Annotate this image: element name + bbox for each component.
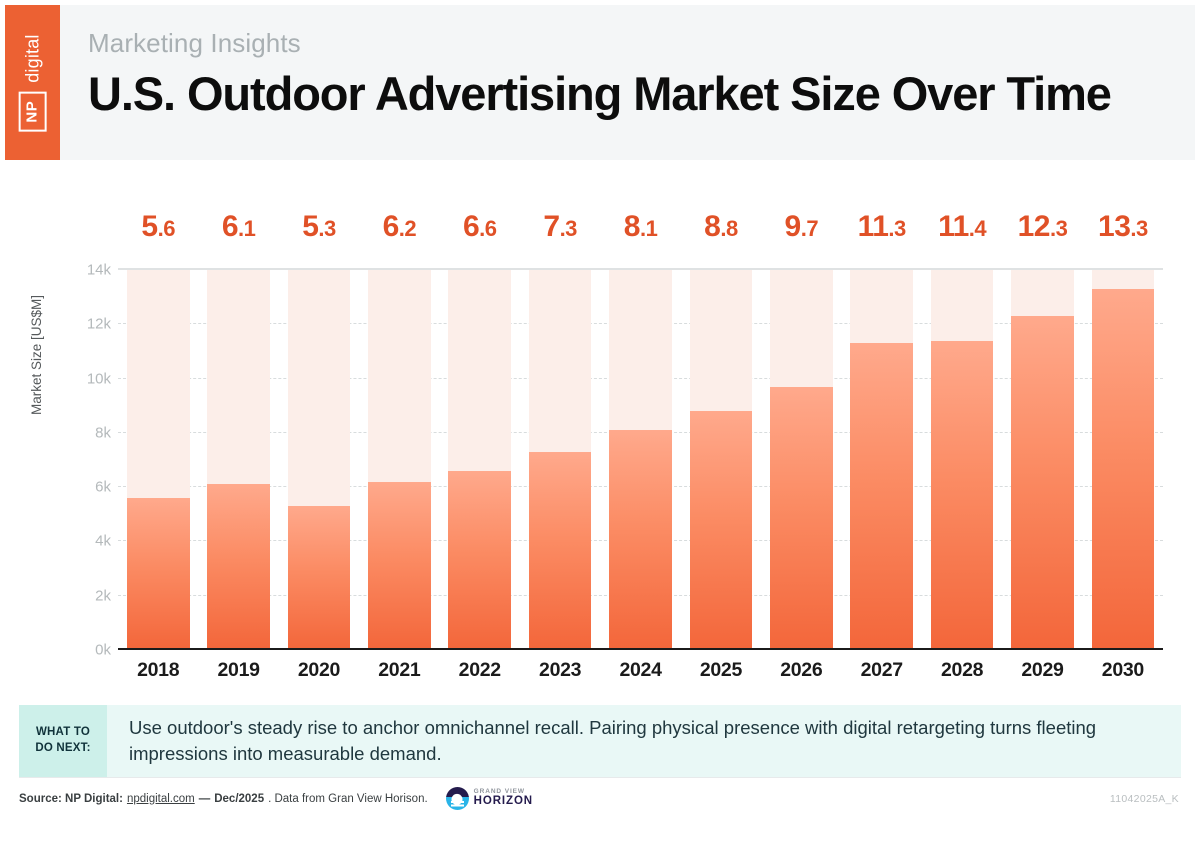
horizon-circle-icon xyxy=(446,787,469,810)
x-axis-tick-label: 2030 xyxy=(1083,659,1163,691)
bar-value-label: 5.6 xyxy=(118,212,198,258)
y-axis-label: Market Size [US$M] xyxy=(29,295,44,415)
source-dash: — xyxy=(199,793,211,805)
partner-logo-bottom: HORIZON xyxy=(474,796,533,808)
np-monogram: NP xyxy=(19,91,47,131)
y-axis-tick-label: 4k xyxy=(53,533,111,550)
eyebrow-label: Marketing Insights xyxy=(88,27,1195,60)
grand-view-horizon-logo: GRAND VIEW HORIZON xyxy=(446,787,533,810)
bar-column[interactable] xyxy=(1002,270,1082,650)
bar-fill[interactable] xyxy=(207,484,270,650)
bar-value-label: 6.2 xyxy=(359,212,439,258)
source-line: Source: NP Digital: npdigital.com — Dec/… xyxy=(19,787,533,810)
x-axis-tick-label: 2028 xyxy=(922,659,1002,691)
bar-value-label: 6.1 xyxy=(198,212,278,258)
bar-fill[interactable] xyxy=(931,341,994,650)
y-axis-tick-label: 6k xyxy=(53,479,111,496)
callout-tag-line2: DO NEXT: xyxy=(35,741,90,757)
plot-region xyxy=(118,270,1163,650)
x-axis-tick-label: 2022 xyxy=(440,659,520,691)
x-axis-labels: 2018201920202021202220232024202520262027… xyxy=(118,659,1163,691)
bar-value-labels: 5.66.15.36.26.67.38.18.89.711.311.412.31… xyxy=(118,212,1163,258)
bar-column[interactable] xyxy=(922,270,1002,650)
grand-view-horizon-wordmark: GRAND VIEW HORIZON xyxy=(474,789,533,807)
bar-column[interactable] xyxy=(440,270,520,650)
bar-fill[interactable] xyxy=(288,506,351,650)
bar-fill[interactable] xyxy=(1092,289,1155,650)
bar-column[interactable] xyxy=(520,270,600,650)
bar-column[interactable] xyxy=(761,270,841,650)
x-axis-tick-label: 2019 xyxy=(198,659,278,691)
bar-column[interactable] xyxy=(842,270,922,650)
x-axis-tick-label: 2021 xyxy=(359,659,439,691)
bar-column[interactable] xyxy=(118,270,198,650)
page-title: U.S. Outdoor Advertising Market Size Ove… xyxy=(88,66,1195,121)
source-suffix: . Data from Gran View Horison. xyxy=(268,793,428,805)
bar-column[interactable] xyxy=(279,270,359,650)
bar-column[interactable] xyxy=(681,270,761,650)
header: NP digital Marketing Insights U.S. Outdo… xyxy=(5,5,1195,160)
logo-rotated-group: NP digital xyxy=(19,34,47,131)
infographic-page: NP digital Marketing Insights U.S. Outdo… xyxy=(0,0,1200,845)
what-to-do-next-callout: WHAT TO DO NEXT: Use outdoor's steady ri… xyxy=(19,705,1181,777)
y-axis-tick-label: 8k xyxy=(53,424,111,441)
y-axis-ticks: 0k2k4k6k8k10k12k14k xyxy=(53,270,111,650)
source-link[interactable]: npdigital.com xyxy=(127,793,195,805)
logo-wordmark: digital xyxy=(22,34,43,82)
x-axis-tick-label: 2026 xyxy=(761,659,841,691)
callout-tag: WHAT TO DO NEXT: xyxy=(19,705,107,777)
bar-value-label: 11.4 xyxy=(922,212,1002,258)
footer: Source: NP Digital: npdigital.com — Dec/… xyxy=(19,777,1181,819)
bar-value-label: 13.3 xyxy=(1083,212,1163,258)
reference-code: 11042025A_K xyxy=(1110,793,1179,805)
bar-fill[interactable] xyxy=(850,343,913,650)
bar-fill[interactable] xyxy=(770,387,833,650)
bar-value-label: 12.3 xyxy=(1002,212,1082,258)
bar-fill[interactable] xyxy=(1011,316,1074,650)
bar-column[interactable] xyxy=(198,270,278,650)
callout-tag-line1: WHAT TO xyxy=(36,725,90,741)
chart-area: Market Size [US$M] 5.66.15.36.26.67.38.1… xyxy=(5,160,1195,705)
bar-fill[interactable] xyxy=(690,411,753,650)
bar-fill[interactable] xyxy=(529,452,592,650)
y-axis-tick-label: 12k xyxy=(53,316,111,333)
bar-value-label: 8.8 xyxy=(681,212,761,258)
bar-column[interactable] xyxy=(359,270,439,650)
bar-fill[interactable] xyxy=(448,471,511,650)
x-axis-tick-label: 2024 xyxy=(600,659,680,691)
header-text: Marketing Insights U.S. Outdoor Advertis… xyxy=(60,5,1195,160)
bar-column[interactable] xyxy=(600,270,680,650)
np-digital-logo: NP digital xyxy=(5,5,60,160)
x-axis-tick-label: 2020 xyxy=(279,659,359,691)
bar-fill[interactable] xyxy=(368,482,431,650)
y-axis-tick-label: 14k xyxy=(53,262,111,279)
y-axis-tick-label: 0k xyxy=(53,642,111,659)
bar-value-label: 11.3 xyxy=(842,212,922,258)
callout-text: Use outdoor's steady rise to anchor omni… xyxy=(107,705,1181,777)
bar-value-label: 7.3 xyxy=(520,212,600,258)
x-axis-tick-label: 2023 xyxy=(520,659,600,691)
x-axis-tick-label: 2027 xyxy=(842,659,922,691)
bar-column[interactable] xyxy=(1083,270,1163,650)
bar-value-label: 5.3 xyxy=(279,212,359,258)
x-axis-tick-label: 2029 xyxy=(1002,659,1082,691)
source-prefix: Source: NP Digital: xyxy=(19,793,123,805)
bar-value-label: 8.1 xyxy=(600,212,680,258)
source-date: Dec/2025 xyxy=(214,793,264,805)
y-axis-tick-label: 10k xyxy=(53,370,111,387)
x-axis-tick-label: 2018 xyxy=(118,659,198,691)
x-axis-line xyxy=(118,648,1163,650)
bar-series xyxy=(118,270,1163,650)
y-axis-tick-label: 2k xyxy=(53,587,111,604)
bar-fill[interactable] xyxy=(127,498,190,650)
bar-fill[interactable] xyxy=(609,430,672,650)
x-axis-tick-label: 2025 xyxy=(681,659,761,691)
bar-value-label: 9.7 xyxy=(761,212,841,258)
bar-value-label: 6.6 xyxy=(440,212,520,258)
